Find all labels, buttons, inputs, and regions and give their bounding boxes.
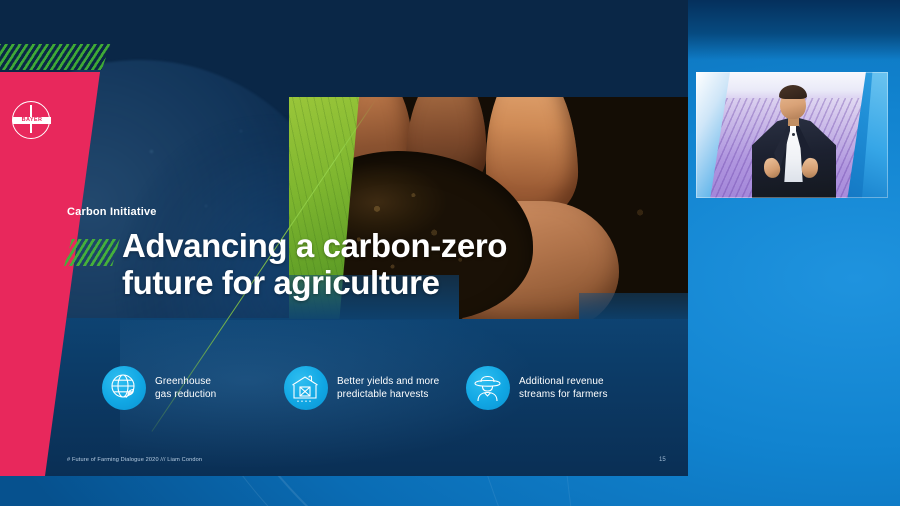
bayer-cross-logo: BAYER	[12, 101, 50, 139]
benefit-label: Additional revenue streams for farmers	[519, 375, 608, 402]
slide-eyebrow: Carbon Initiative	[67, 206, 157, 218]
globe-leaf-icon	[102, 366, 146, 410]
benefits-row: Greenhouse gas reduction	[102, 366, 672, 416]
presenter-lapel-mic	[792, 133, 795, 136]
watermark-speck	[150, 150, 153, 153]
benefit-item-additional-revenue[interactable]: Additional revenue streams for farmers	[466, 366, 608, 410]
slide-title: Advancing a carbon-zero future for agric…	[122, 227, 622, 302]
presentation-slide[interactable]: BAYER Carbon Initiative Advancing a carb	[0, 0, 688, 476]
benefit-label: Greenhouse gas reduction	[155, 375, 216, 402]
slide-page-number: 15	[659, 457, 666, 463]
benefit-label: Better yields and more predictable harve…	[337, 375, 439, 402]
green-hatch-band	[0, 44, 110, 70]
benefit-item-greenhouse-gas-reduction[interactable]: Greenhouse gas reduction	[102, 366, 216, 410]
watermark-speck	[240, 130, 242, 132]
watermark-speck	[205, 205, 207, 207]
farmer-hat-icon	[466, 366, 510, 410]
green-hatch-title-marker	[64, 239, 120, 266]
slide-footer-credit: # Future of Farming Dialogue 2020 /// Li…	[67, 457, 202, 463]
presenter-video-tile[interactable]	[696, 72, 888, 198]
barn-farm-icon	[284, 366, 328, 410]
meeting-stage: BAYER Carbon Initiative Advancing a carb	[0, 0, 900, 506]
benefit-item-better-yields[interactable]: Better yields and more predictable harve…	[284, 366, 439, 410]
bayer-wordmark: BAYER	[13, 117, 51, 124]
